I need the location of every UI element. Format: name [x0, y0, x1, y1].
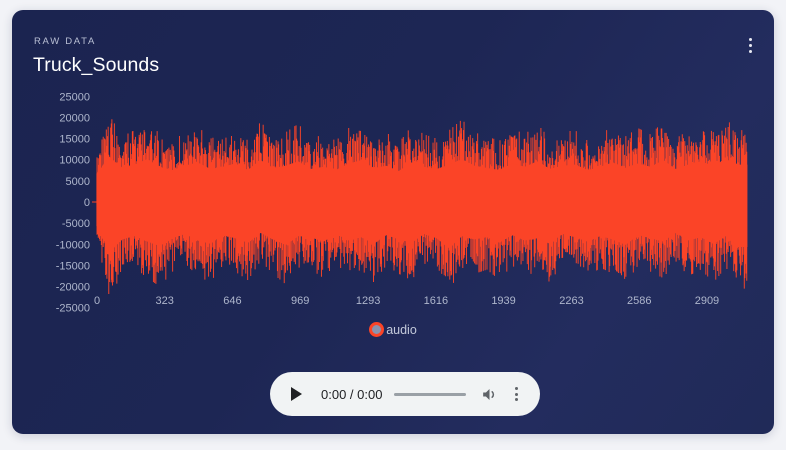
legend-label-audio[interactable]: audio [386, 323, 417, 337]
x-axis-tick-labels: 0323646969129316161939226325862909 [94, 295, 719, 307]
page-title: Truck_Sounds [33, 54, 159, 77]
y-axis-tick: 25000 [59, 91, 90, 103]
card-header: RAW DATA Truck_Sounds [12, 10, 774, 82]
chart-legend: audio [12, 322, 774, 337]
y-axis-tick: 15000 [59, 134, 90, 146]
y-axis-tick: -5000 [62, 218, 90, 230]
volume-icon[interactable] [478, 383, 500, 405]
x-axis-tick: 1939 [491, 295, 515, 307]
y-axis-tick: 10000 [59, 155, 90, 167]
waveform-core [97, 157, 747, 251]
play-triangle [291, 387, 302, 401]
x-axis-tick: 0 [94, 295, 100, 307]
kebab-menu-icon[interactable] [506, 383, 526, 405]
y-axis-tick: -10000 [56, 239, 90, 251]
raw-data-card: RAW DATA Truck_Sounds 250002000015000100… [12, 10, 774, 434]
audio-player[interactable]: 0:00 / 0:00 [270, 372, 540, 416]
volume-glyph [480, 385, 499, 404]
waveform-svg: 2500020000150001000050000-5000-10000-150… [12, 82, 774, 312]
card-eyebrow-label: RAW DATA [34, 36, 96, 47]
audio-time-display: 0:00 / 0:00 [321, 387, 382, 402]
x-axis-tick: 2263 [559, 295, 583, 307]
kebab-dot [749, 50, 752, 53]
x-axis-tick: 323 [156, 295, 174, 307]
y-axis-tick-labels: 2500020000150001000050000-5000-10000-150… [56, 91, 90, 312]
audio-progress-slider[interactable] [394, 393, 466, 396]
legend-marker-audio[interactable] [369, 322, 384, 337]
kebab-menu-icon[interactable] [739, 32, 761, 58]
kebab-dot [749, 44, 752, 47]
x-axis-tick: 2586 [627, 295, 651, 307]
y-axis-tick: -25000 [56, 303, 90, 312]
play-icon[interactable] [284, 382, 308, 406]
x-axis-tick: 2909 [695, 295, 719, 307]
y-axis-tick: -20000 [56, 282, 90, 294]
kebab-dot [515, 387, 518, 390]
audio-waveform-series [92, 119, 747, 294]
kebab-dot [515, 398, 518, 401]
y-axis-tick: 0 [84, 197, 90, 209]
kebab-dot [749, 38, 752, 41]
x-axis-tick: 646 [223, 295, 241, 307]
x-axis-tick: 1616 [424, 295, 448, 307]
y-axis-tick: 5000 [66, 176, 90, 188]
kebab-dot [515, 393, 518, 396]
x-axis-tick: 969 [291, 295, 309, 307]
y-axis-tick: 20000 [59, 112, 90, 124]
y-axis-tick: -15000 [56, 260, 90, 272]
x-axis-tick: 1293 [356, 295, 380, 307]
